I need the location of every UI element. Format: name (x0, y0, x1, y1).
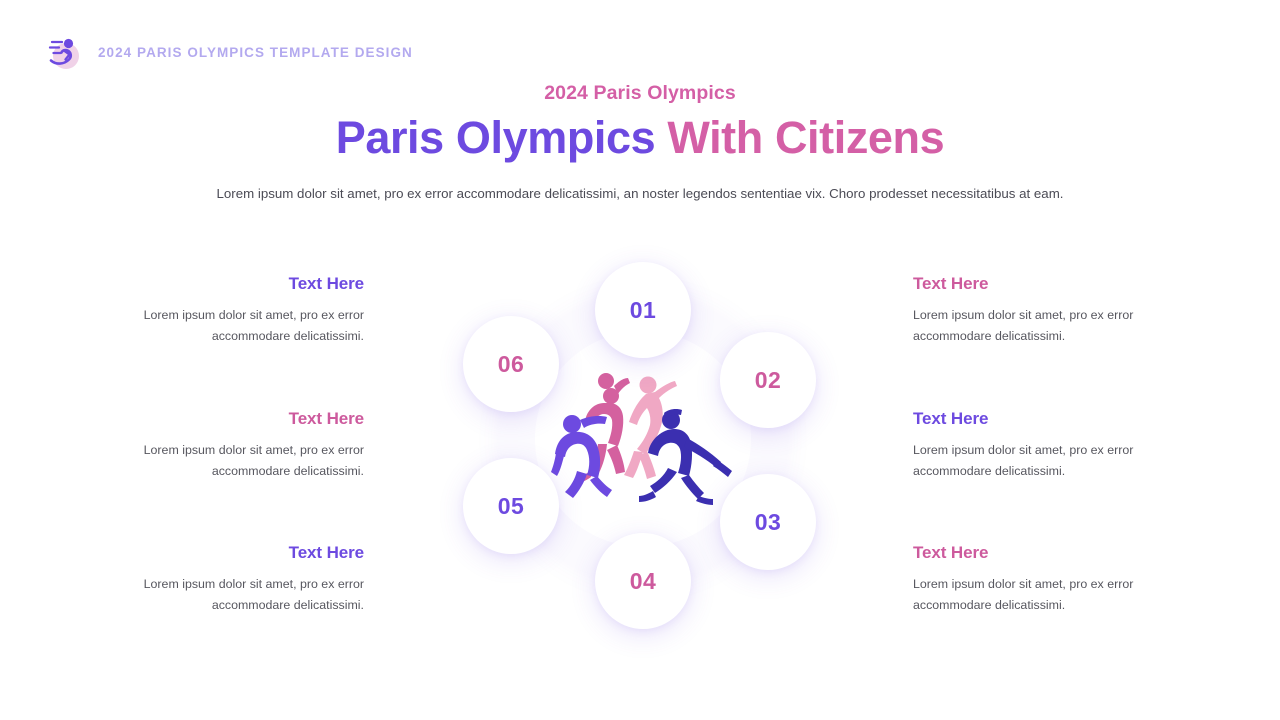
hero-description: Lorem ipsum dolor sit amet, pro ex error… (0, 184, 1280, 204)
left-text-block-3: Text Here Lorem ipsum dolor sit amet, pr… (112, 543, 364, 617)
right-text-block-2: Text Here Lorem ipsum dolor sit amet, pr… (913, 409, 1165, 483)
block-title: Text Here (913, 274, 1165, 294)
diagram-node-05[interactable]: 05 (463, 458, 559, 554)
olympic-athletes-silhouette-icon (551, 372, 735, 506)
block-title: Text Here (913, 409, 1165, 429)
brand-title: 2024 PARIS OLYMPICS TEMPLATE DESIGN (98, 45, 413, 60)
block-body: Lorem ipsum dolor sit amet, pro ex error… (913, 574, 1165, 617)
block-body: Lorem ipsum dolor sit amet, pro ex error… (112, 574, 364, 617)
block-title: Text Here (913, 543, 1165, 563)
node-number: 05 (498, 493, 525, 520)
node-number: 01 (630, 297, 657, 324)
node-number: 06 (498, 351, 525, 378)
diagram-node-06[interactable]: 06 (463, 316, 559, 412)
page-title-part-b: With Citizens (667, 112, 944, 163)
node-number: 04 (630, 568, 657, 595)
diagram-node-01[interactable]: 01 (595, 262, 691, 358)
block-body: Lorem ipsum dolor sit amet, pro ex error… (112, 440, 364, 483)
hero-eyebrow: 2024 Paris Olympics (0, 82, 1280, 105)
block-body: Lorem ipsum dolor sit amet, pro ex error… (913, 440, 1165, 483)
diagram-node-02[interactable]: 02 (720, 332, 816, 428)
node-number: 03 (755, 509, 782, 536)
running-athlete-icon (40, 30, 84, 74)
block-title: Text Here (112, 274, 364, 294)
block-body: Lorem ipsum dolor sit amet, pro ex error… (112, 305, 364, 348)
block-title: Text Here (112, 543, 364, 563)
block-body: Lorem ipsum dolor sit amet, pro ex error… (913, 305, 1165, 348)
left-text-block-2: Text Here Lorem ipsum dolor sit amet, pr… (112, 409, 364, 483)
left-text-block-1: Text Here Lorem ipsum dolor sit amet, pr… (112, 274, 364, 348)
right-text-block-3: Text Here Lorem ipsum dolor sit amet, pr… (913, 543, 1165, 617)
page-title-part-a: Paris Olympics (336, 112, 668, 163)
block-title: Text Here (112, 409, 364, 429)
diagram-node-03[interactable]: 03 (720, 474, 816, 570)
brand-bar: 2024 PARIS OLYMPICS TEMPLATE DESIGN (40, 30, 413, 74)
diagram-node-04[interactable]: 04 (595, 533, 691, 629)
node-number: 02 (755, 367, 782, 394)
page-title: Paris Olympics With Citizens (0, 112, 1280, 164)
right-text-block-1: Text Here Lorem ipsum dolor sit amet, pr… (913, 274, 1165, 348)
